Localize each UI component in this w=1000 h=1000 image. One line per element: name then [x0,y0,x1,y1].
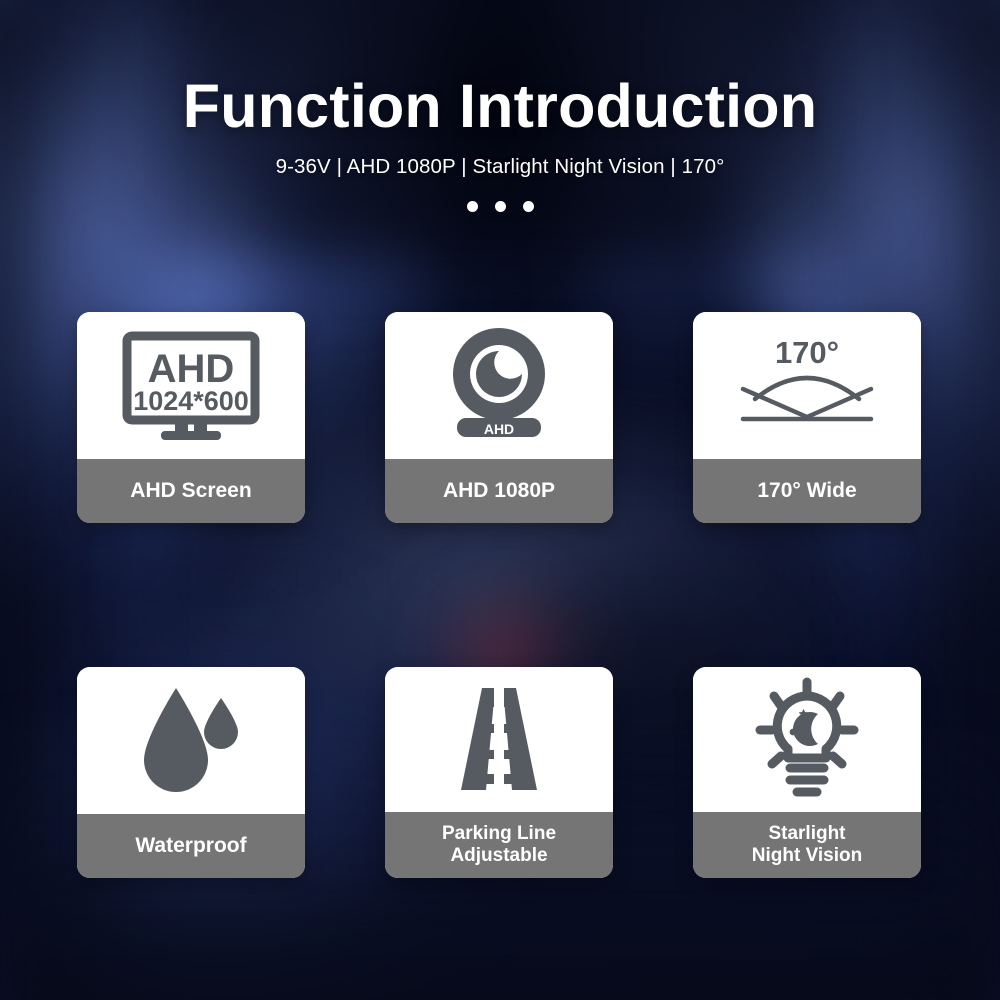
feature-card-label-line2: Night Vision [752,845,862,866]
indicator-dot-3 [523,201,534,212]
feature-card-label-line1: Parking Line [442,823,556,844]
feature-card-label: Parking Line Adjustable [385,812,613,878]
monitor-icon-primary-text: AHD [148,347,235,391]
monitor-icon-secondary-text: 1024*600 [133,386,249,416]
light-bulb-moon-icon [693,667,921,812]
feature-card-grid: AHD 1024*600 AHD Screen AHD [77,312,921,878]
feature-card-parking-line[interactable]: Parking Line Adjustable [385,667,613,878]
wide-angle-icon: 170° [693,312,921,459]
feature-card-ahd-screen[interactable]: AHD 1024*600 AHD Screen [77,312,305,523]
indicator-dot-1 [467,201,478,212]
feature-card-label-line1: Starlight [768,823,845,844]
feature-card-170-wide[interactable]: 170° 170° Wide [693,312,921,523]
wide-angle-icon-text: 170° [775,335,839,370]
feature-card-label: Starlight Night Vision [693,812,921,878]
feature-card-ahd-1080p[interactable]: AHD AHD 1080P [385,312,613,523]
slide-indicator [0,201,1000,212]
feature-card-waterproof[interactable]: Waterproof [77,667,305,878]
parking-line-icon [385,667,613,812]
water-drop-icon [77,667,305,814]
page-subtitle: 9-36V | AHD 1080P | Starlight Night Visi… [0,155,1000,179]
indicator-dot-2 [495,201,506,212]
feature-card-label: AHD Screen [77,459,305,523]
page-title: Function Introduction [0,74,1000,139]
feature-card-night-vision[interactable]: Starlight Night Vision [693,667,921,878]
camera-icon-base-text: AHD [484,421,514,437]
page-header: Function Introduction 9-36V | AHD 1080P … [0,74,1000,212]
monitor-ahd-icon: AHD 1024*600 [77,312,305,459]
feature-card-label: Waterproof [77,814,305,878]
camera-lens-icon: AHD [385,312,613,459]
feature-card-label: 170° Wide [693,459,921,523]
feature-card-label-line2: Adjustable [450,845,547,866]
feature-card-label: AHD 1080P [385,459,613,523]
